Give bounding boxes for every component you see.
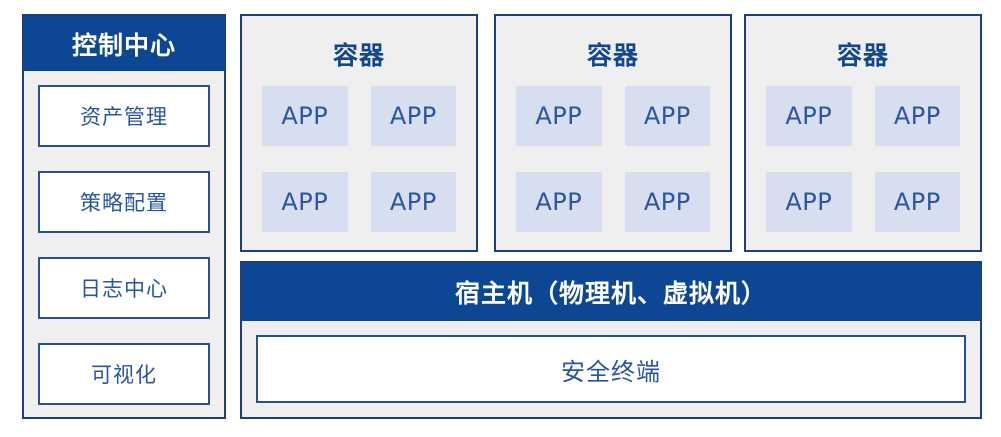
control-center-item-visualization[interactable]: 可视化 xyxy=(38,343,210,405)
app-box[interactable]: APP xyxy=(262,172,348,232)
app-grid: APP APP APP APP xyxy=(746,86,980,250)
architecture-diagram: 控制中心 资产管理 策略配置 日志中心 可视化 容器 APP APP APP A… xyxy=(0,0,1001,437)
host-machine-body: 安全终端 xyxy=(242,321,980,417)
control-center-item-log-center[interactable]: 日志中心 xyxy=(38,257,210,319)
container-title: 容器 xyxy=(587,36,639,72)
control-center-item-list: 资产管理 策略配置 日志中心 可视化 xyxy=(24,71,224,417)
app-box[interactable]: APP xyxy=(875,86,961,146)
app-box[interactable]: APP xyxy=(625,172,711,232)
app-box[interactable]: APP xyxy=(371,86,457,146)
control-center-item-policy-config[interactable]: 策略配置 xyxy=(38,171,210,233)
app-box[interactable]: APP xyxy=(875,172,961,232)
container-panel-1: 容器 APP APP APP APP xyxy=(240,14,478,252)
app-box[interactable]: APP xyxy=(516,172,602,232)
app-box[interactable]: APP xyxy=(516,86,602,146)
container-title: 容器 xyxy=(837,36,889,72)
container-title: 容器 xyxy=(333,36,385,72)
app-box[interactable]: APP xyxy=(625,86,711,146)
app-box[interactable]: APP xyxy=(371,172,457,232)
host-machine-title: 宿主机（物理机、虚拟机） xyxy=(242,263,980,321)
app-box[interactable]: APP xyxy=(262,86,348,146)
control-center-panel: 控制中心 资产管理 策略配置 日志中心 可视化 xyxy=(22,14,226,419)
host-machine-panel: 宿主机（物理机、虚拟机） 安全终端 xyxy=(240,261,982,419)
app-box[interactable]: APP xyxy=(766,86,852,146)
app-box[interactable]: APP xyxy=(766,172,852,232)
app-grid: APP APP APP APP xyxy=(496,86,730,250)
app-grid: APP APP APP APP xyxy=(242,86,476,250)
security-endpoint-box[interactable]: 安全终端 xyxy=(256,335,966,403)
control-center-title: 控制中心 xyxy=(24,16,224,71)
container-panel-2: 容器 APP APP APP APP xyxy=(494,14,732,252)
control-center-item-asset-management[interactable]: 资产管理 xyxy=(38,85,210,147)
container-panel-3: 容器 APP APP APP APP xyxy=(744,14,982,252)
